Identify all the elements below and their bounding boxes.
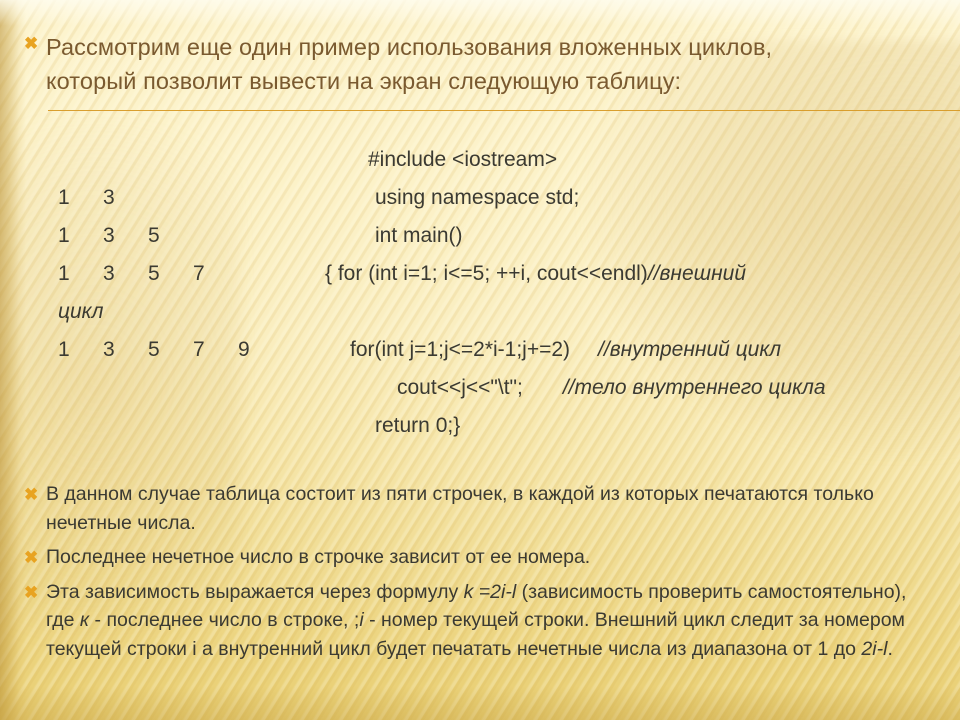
plain-text: Последнее нечетное число в строчке завис… xyxy=(46,546,590,568)
table-cell: 7 xyxy=(193,335,205,365)
code-text: { for (int i=1; i<=5; ++i, cout<<endl) xyxy=(325,262,648,285)
table-cell: 1 xyxy=(58,183,70,213)
page-title-line-1: Рассмотрим еще один пример использования… xyxy=(46,30,924,64)
table-cell: 5 xyxy=(148,335,160,365)
page-title: Рассмотрим еще один пример использования… xyxy=(46,30,924,98)
list-item: ✖ Эта зависимость выражается через форму… xyxy=(0,578,936,664)
bullet-x-icon: ✖ xyxy=(24,584,46,601)
page-title-line-2: который позволит вывести на экран следую… xyxy=(46,64,924,98)
code-line-inner-for: for(int j=1;j<=2*i-1;j+=2)//внутренний ц… xyxy=(350,335,781,365)
emphasis-text: 2i-l xyxy=(861,638,887,660)
table-cell: 1 xyxy=(58,221,70,251)
table-cell: 7 xyxy=(193,259,205,289)
plain-text: - последнее число в строке, ; xyxy=(89,609,359,631)
code-text: cout<<j<<"\t"; xyxy=(397,376,523,399)
emphasis-text: k =2i-l xyxy=(464,581,517,603)
bullet-x-icon: ✖ xyxy=(24,549,46,566)
emphasis-text: к xyxy=(80,609,89,631)
code-line-outer-for: { for (int i=1; i<=5; ++i, cout<<endl)//… xyxy=(325,259,746,289)
table-cell: 1 xyxy=(58,335,70,365)
note-2-text: Последнее нечетное число в строчке завис… xyxy=(46,543,936,572)
code-line-main: int main() xyxy=(375,221,463,251)
table-cell: 3 xyxy=(103,335,115,365)
table-cell: 9 xyxy=(238,335,250,365)
code-line-using: using namespace std; xyxy=(375,183,579,213)
code-comment: //внутренний цикл xyxy=(598,338,781,361)
code-comment-wrap: цикл xyxy=(58,297,103,327)
presentation-slide: ✖ Рассмотрим еще один пример использован… xyxy=(0,0,960,720)
table-cell: 3 xyxy=(103,183,115,213)
code-line-cout: cout<<j<<"\t";//тело внутреннего цикла xyxy=(397,373,826,403)
table-cell: 5 xyxy=(148,221,160,251)
bullet-x-icon: ✖ xyxy=(24,35,46,52)
code-line-return: return 0;} xyxy=(375,411,460,441)
plain-text: В данном случае таблица состоит из пяти … xyxy=(46,483,874,534)
code-comment: //внешний xyxy=(648,262,746,285)
note-3-text: Эта зависимость выражается через формулу… xyxy=(46,578,936,664)
plain-text: Эта зависимость выражается через формулу xyxy=(46,581,464,603)
title-divider xyxy=(48,110,960,111)
table-cell: 3 xyxy=(103,259,115,289)
note-1-text: В данном случае таблица состоит из пяти … xyxy=(46,480,936,537)
code-line-include: #include <iostream> xyxy=(368,145,557,175)
list-item: ✖ Последнее нечетное число в строчке зав… xyxy=(0,543,936,572)
code-comment: //тело внутреннего цикла xyxy=(563,376,826,399)
bullet-x-icon: ✖ xyxy=(24,486,46,503)
notes-list: ✖ В данном случае таблица состоит из пят… xyxy=(0,480,960,669)
table-cell: 1 xyxy=(58,259,70,289)
slide-title-bullet: ✖ Рассмотрим еще один пример использован… xyxy=(24,30,924,98)
code-text: for(int j=1;j<=2*i-1;j+=2) xyxy=(350,338,570,361)
table-cell: 5 xyxy=(148,259,160,289)
plain-text: . xyxy=(887,638,892,660)
code-sample-area: 1 3 1 3 5 1 3 5 7 1 3 5 7 9 #include <io… xyxy=(0,145,960,455)
table-cell: 3 xyxy=(103,221,115,251)
list-item: ✖ В данном случае таблица состоит из пят… xyxy=(0,480,936,537)
